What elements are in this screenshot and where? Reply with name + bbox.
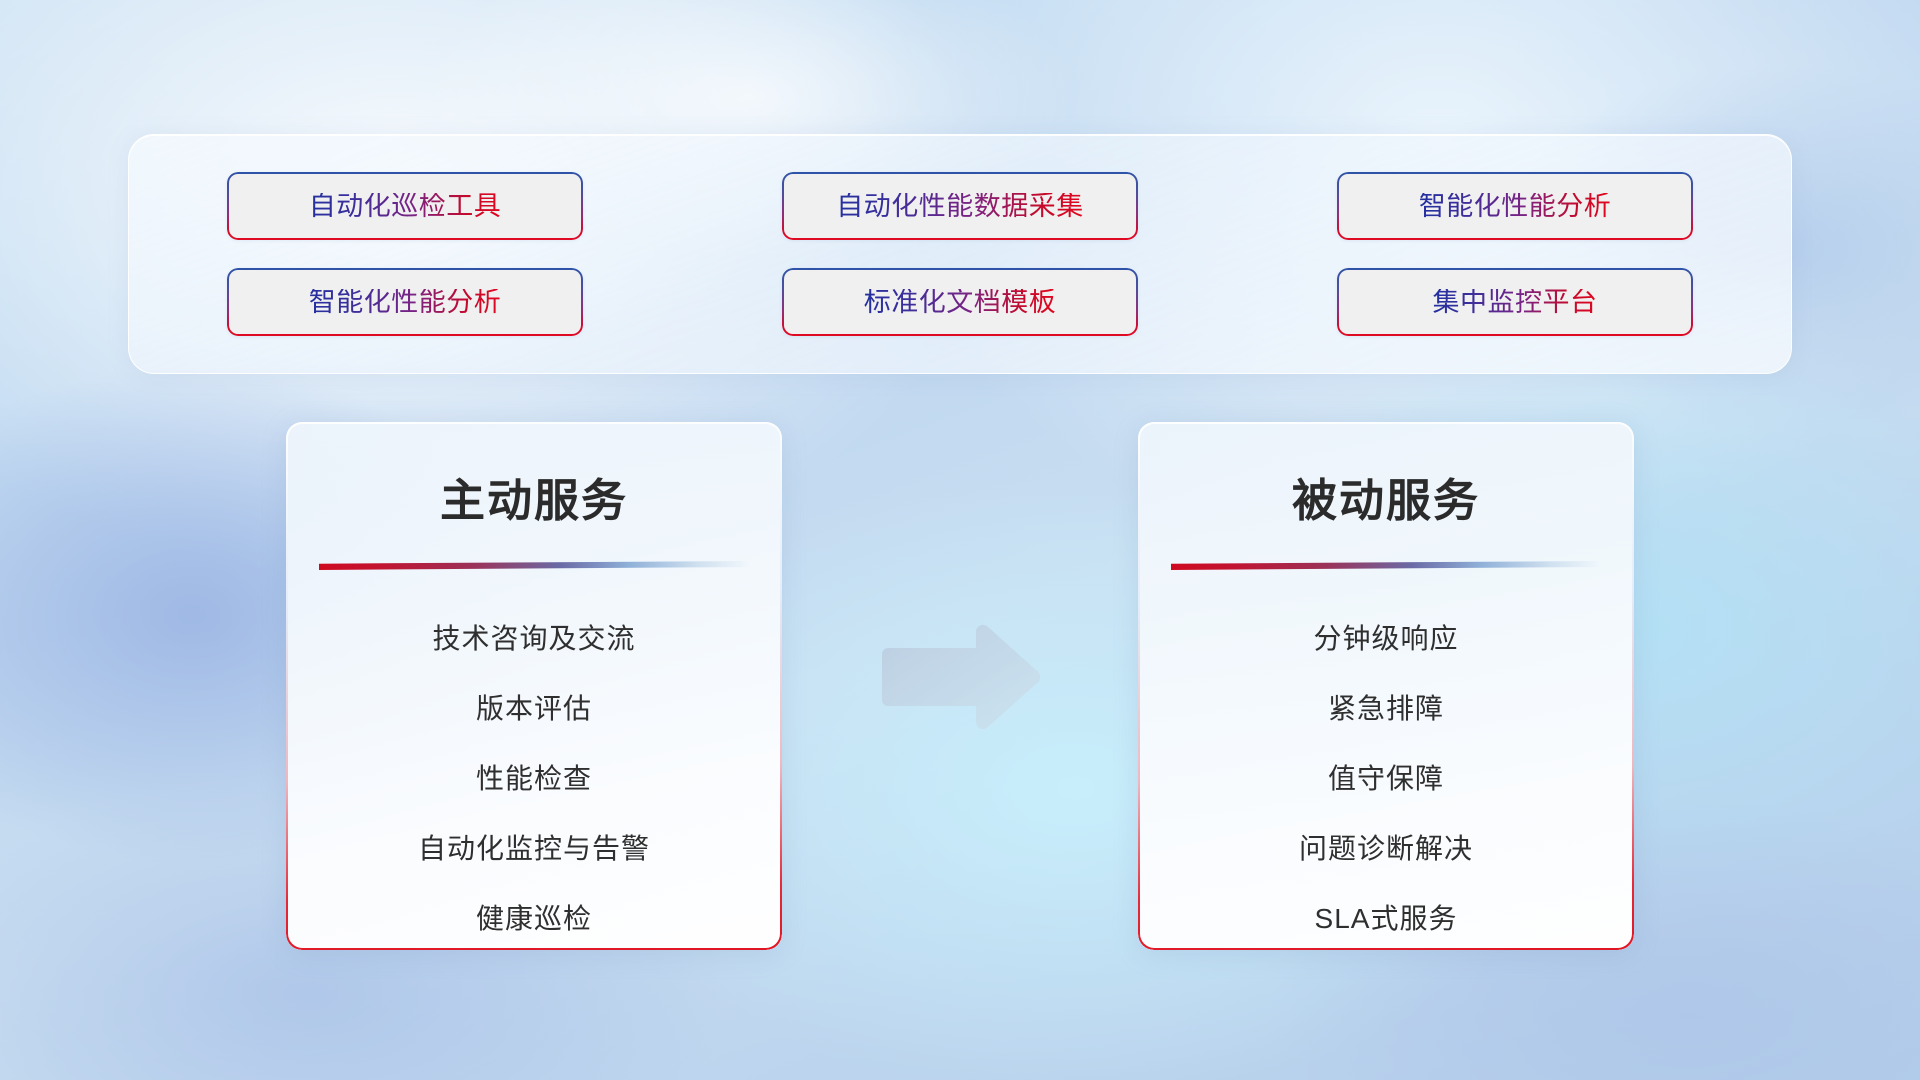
capability-chip-label: 自动化性能数据采集	[836, 193, 1084, 220]
service-card-reactive[interactable]: 被动服务 分钟级响应 紧急排障 值守保障 问题诊断解决 SLA式服务	[1138, 422, 1634, 950]
capability-chip-label: 自动化巡检工具	[309, 193, 502, 220]
capability-chip-label: 标准化文档模板	[864, 289, 1057, 316]
service-item[interactable]: 技术咨询及交流	[286, 604, 782, 674]
service-card-title: 主动服务	[286, 464, 782, 529]
capability-chip-automated-inspection-tool[interactable]: 自动化巡检工具	[227, 172, 583, 240]
capability-row-1: 自动化巡检工具 自动化性能数据采集 智能化性能分析	[227, 172, 1693, 240]
title-divider	[319, 561, 749, 570]
capability-chip-standardized-doc-template[interactable]: 标准化文档模板	[782, 268, 1138, 336]
capability-chip-intelligent-performance-analysis[interactable]: 智能化性能分析	[1337, 172, 1693, 240]
capability-chip-label: 智能化性能分析	[1419, 193, 1612, 220]
service-card-proactive[interactable]: 主动服务 技术咨询及交流 版本评估 性能检查 自动化监控与告警 健康巡检	[286, 422, 782, 950]
service-item[interactable]: SLA式服务	[1138, 884, 1634, 950]
service-item[interactable]: 性能检查	[286, 744, 782, 814]
service-item[interactable]: 分钟级响应	[1138, 604, 1634, 674]
service-item-list: 技术咨询及交流 版本评估 性能检查 自动化监控与告警 健康巡检	[286, 604, 782, 950]
divider-bar	[319, 561, 749, 570]
service-item[interactable]: 紧急排障	[1138, 674, 1634, 744]
capability-chip-centralized-monitoring-platform[interactable]: 集中监控平台	[1337, 268, 1693, 336]
capability-chip-intelligent-performance-analysis-2[interactable]: 智能化性能分析	[227, 268, 583, 336]
capability-chip-label: 集中监控平台	[1433, 289, 1598, 316]
service-item[interactable]: 问题诊断解决	[1138, 814, 1634, 884]
service-card-title: 被动服务	[1138, 464, 1634, 529]
title-divider	[1171, 561, 1601, 570]
capability-chip-automated-performance-data-collection[interactable]: 自动化性能数据采集	[782, 172, 1138, 240]
capability-panel: 自动化巡检工具 自动化性能数据采集 智能化性能分析 智能化性能分析 标准化文档模…	[128, 134, 1792, 374]
capability-row-2: 智能化性能分析 标准化文档模板 集中监控平台	[227, 268, 1693, 336]
service-item-list: 分钟级响应 紧急排障 值守保障 问题诊断解决 SLA式服务	[1138, 604, 1634, 950]
service-item[interactable]: 健康巡检	[286, 884, 782, 950]
capability-chip-label: 智能化性能分析	[309, 289, 502, 316]
arrow-right-icon	[876, 622, 1042, 732]
service-item[interactable]: 版本评估	[286, 674, 782, 744]
service-item[interactable]: 值守保障	[1138, 744, 1634, 814]
service-item[interactable]: 自动化监控与告警	[286, 814, 782, 884]
divider-bar	[1171, 561, 1601, 570]
